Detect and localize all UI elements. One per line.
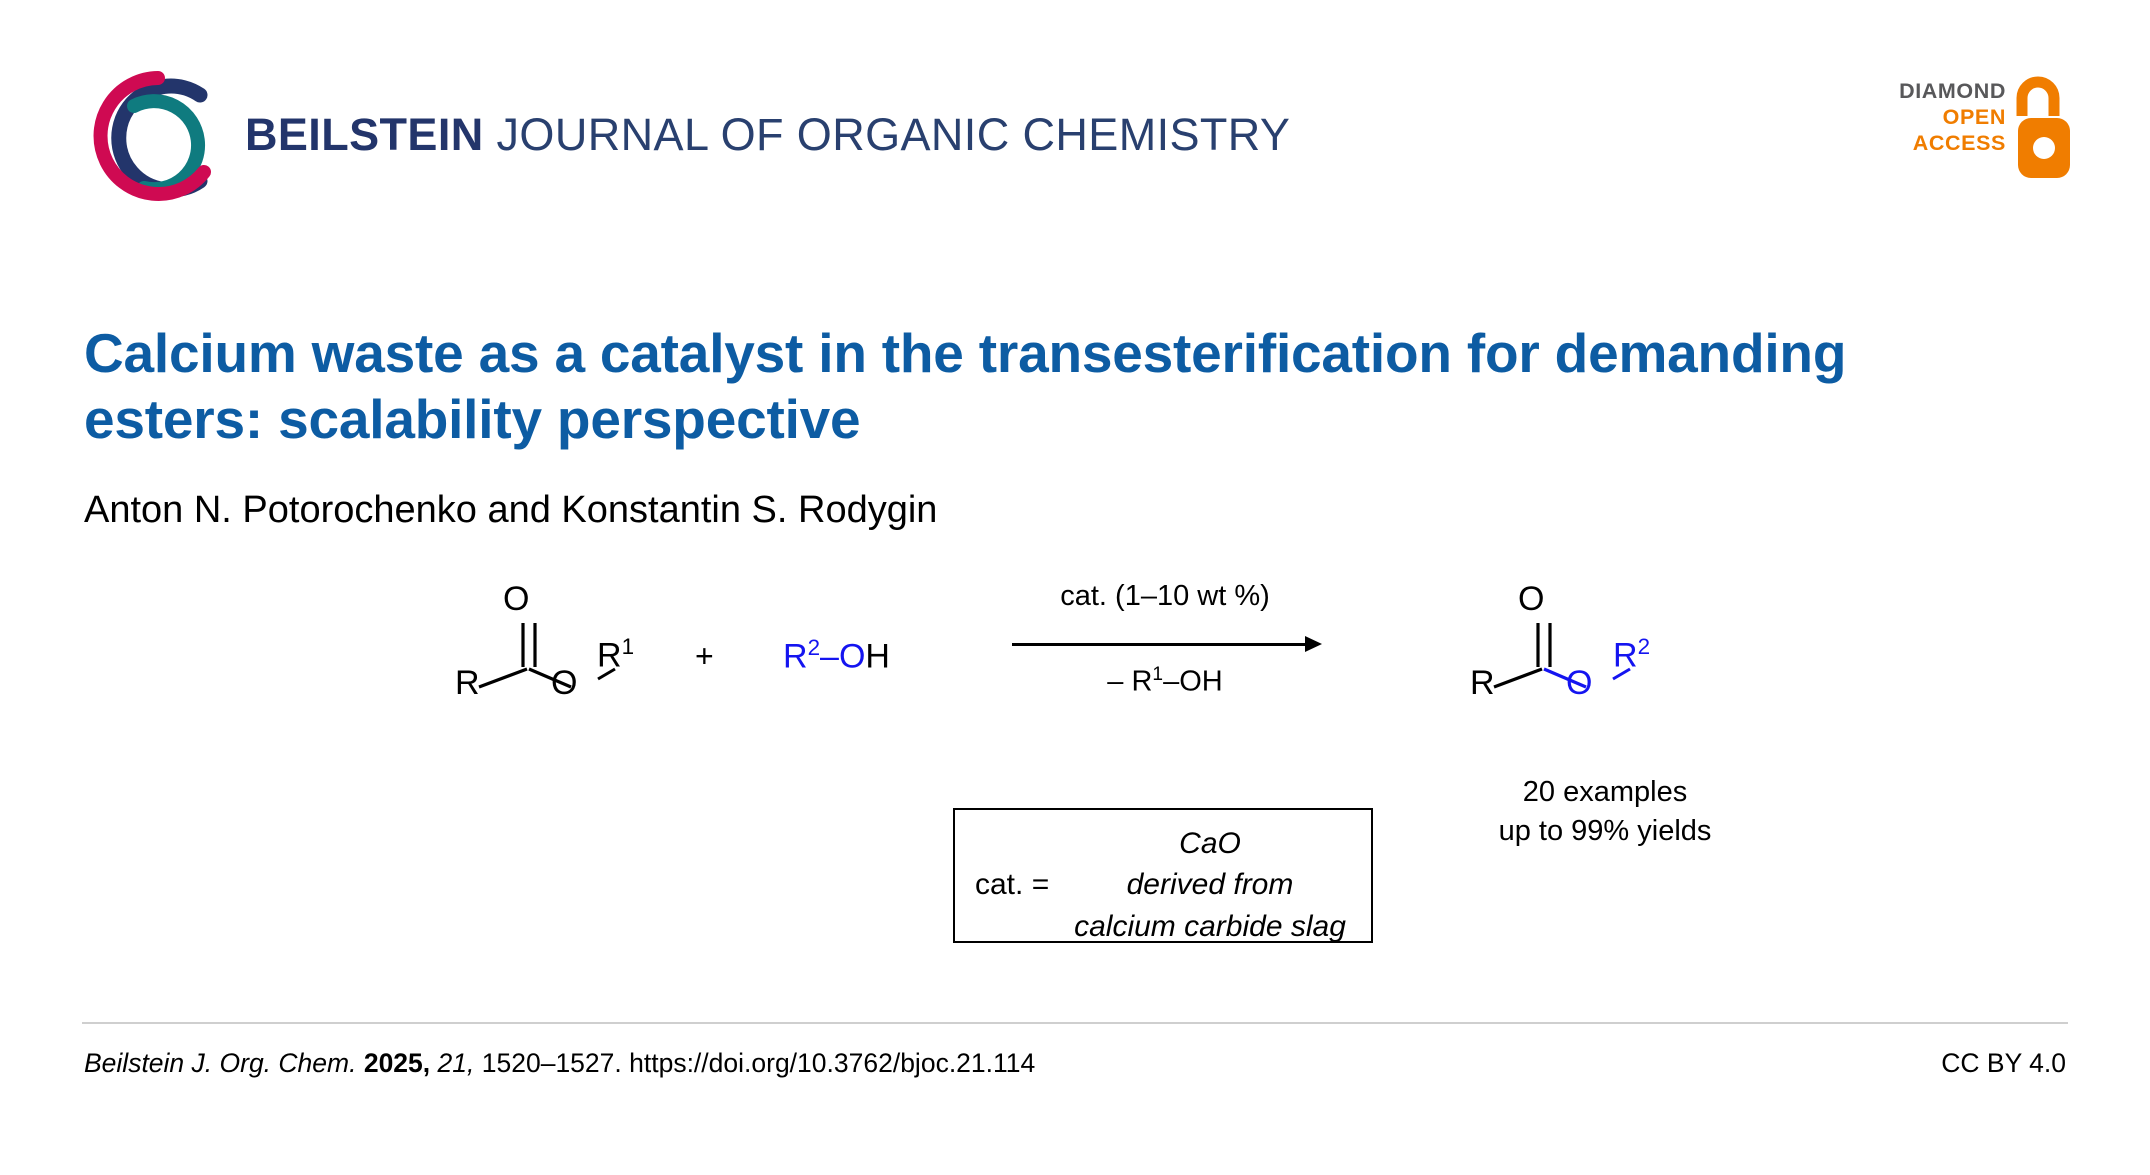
diamond-open-access-badge: DIAMOND OPEN ACCESS	[1880, 76, 2072, 196]
article-authors: Anton N. Potorochenko and Konstantin S. …	[84, 489, 937, 532]
plus-operator: +	[695, 638, 714, 675]
open-access-text: DIAMOND OPEN ACCESS	[1899, 78, 2006, 157]
reaction-scheme: R O O R1 + R2–OH cat. (1–10 wt %) – R1–O…	[0, 580, 2150, 980]
reactant-label-ester-oxygen: O	[551, 664, 577, 703]
citation-line: Beilstein J. Org. Chem. 2025, 21, 1520–1…	[84, 1048, 1035, 1079]
yield-note: 20 examples up to 99% yields	[1455, 773, 1755, 850]
yield-examples-count: 20 examples	[1455, 773, 1755, 812]
oa-label-access: ACCESS	[1899, 130, 2006, 156]
reactant-label-R: R	[455, 664, 480, 703]
beilstein-swirl-logo	[82, 62, 234, 214]
journal-wordmark: BEILSTEIN JOURNAL OF ORGANIC CHEMISTRY	[245, 112, 1290, 157]
catalyst-formula: CaO	[1060, 823, 1360, 864]
reactant-label-R1: R1	[597, 634, 634, 675]
catalyst-equals-label: cat. =	[975, 868, 1049, 902]
catalyst-origin-line2: calcium carbide slag	[1060, 906, 1360, 947]
page-header: BEILSTEIN JOURNAL OF ORGANIC CHEMISTRY D…	[0, 0, 2150, 230]
catalyst-origin-line1: derived from	[1060, 864, 1360, 905]
alcohol-hydrogen: H	[865, 637, 890, 675]
oa-label-open: OPEN	[1899, 104, 2006, 130]
citation-pages-doi: 1520–1527. https://doi.org/10.3762/bjoc.…	[482, 1048, 1036, 1078]
arrow-byproduct-label: – R1–OH	[1000, 664, 1330, 699]
citation-volume: 21,	[438, 1048, 475, 1078]
reactant-label-carbonyl-oxygen: O	[503, 580, 529, 619]
alcohol-R2: R	[783, 637, 808, 675]
license-label: CC BY 4.0	[1941, 1048, 2066, 1079]
product-label-carbonyl-oxygen: O	[1518, 580, 1544, 619]
reaction-arrow-head	[1305, 636, 1322, 652]
reaction-arrow-shaft	[1012, 643, 1312, 646]
footer-divider	[82, 1022, 2068, 1024]
catalyst-description: CaO derived from calcium carbide slag	[1060, 823, 1360, 947]
arrow-conditions-label: cat. (1–10 wt %)	[1000, 580, 1330, 613]
citation-journal: Beilstein J. Org. Chem.	[84, 1048, 356, 1078]
alcohol-bond-oxygen: –O	[820, 637, 865, 675]
alcohol-R2-superscript: 2	[808, 635, 820, 660]
yield-percentage: up to 99% yields	[1455, 812, 1755, 851]
wordmark-light: JOURNAL OF ORGANIC CHEMISTRY	[497, 109, 1291, 160]
open-padlock-icon	[2012, 76, 2072, 182]
product-label-ester-oxygen: O	[1566, 664, 1592, 703]
oa-label-diamond: DIAMOND	[1899, 78, 2006, 104]
wordmark-bold: BEILSTEIN	[245, 109, 484, 160]
citation-year: 2025,	[364, 1048, 430, 1078]
article-title: Calcium waste as a catalyst in the trans…	[84, 320, 1964, 453]
reactant-alcohol: R2–OH	[783, 635, 890, 676]
product-label-R: R	[1470, 664, 1495, 703]
product-label-R2: R2	[1613, 634, 1650, 675]
